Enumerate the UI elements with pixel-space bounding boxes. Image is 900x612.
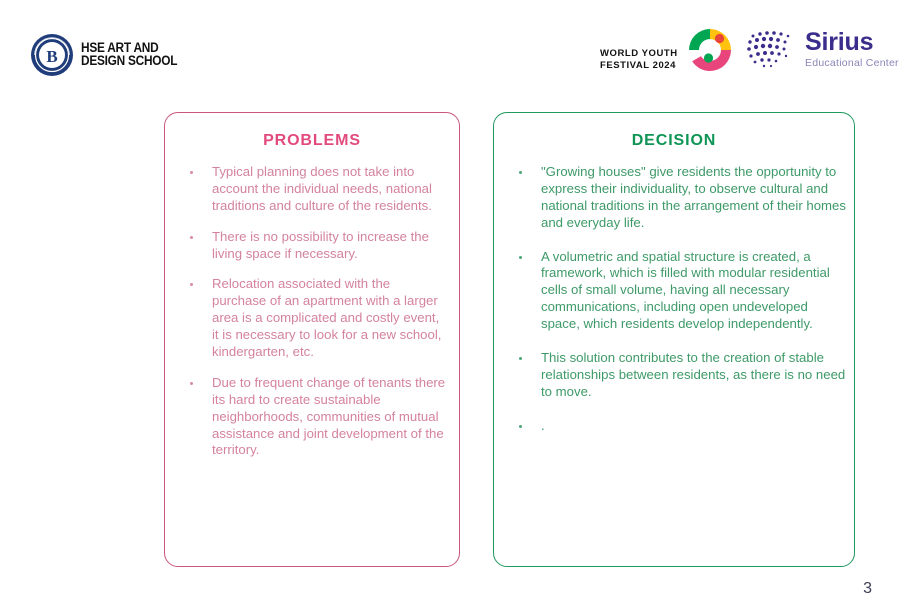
sirius-dot-cluster-icon [744, 28, 796, 70]
svg-text:B: B [46, 47, 57, 66]
bullet-point-icon [190, 236, 193, 239]
bullet-point-icon [519, 425, 522, 428]
list-item: There is no possibility to increase the … [178, 229, 447, 263]
hse-seal-icon: B [30, 33, 74, 77]
problems-card-title: PROBLEMS [165, 132, 459, 150]
sirius-logo-name: Sirius [805, 30, 899, 55]
decision-bullet-4: . [541, 418, 846, 435]
sirius-educational-center-logo: Sirius Educational Center [744, 28, 899, 70]
presentation-slide: B HSE ART AND DESIGN SCHOOL WORLD YOUTH … [0, 0, 900, 612]
decision-card: DECISION "Growing houses" give residents… [493, 112, 855, 567]
list-item: A volumetric and spatial structure is cr… [507, 249, 846, 333]
list-item: Relocation associated with the purchase … [178, 276, 447, 360]
decision-bullet-list: "Growing houses" give residents the oppo… [494, 164, 854, 435]
problems-bullet-4: Due to frequent change of tenants there … [212, 375, 447, 459]
wyf-logo-line2: FESTIVAL 2024 [600, 60, 678, 72]
list-item: "Growing houses" give residents the oppo… [507, 164, 846, 232]
page-number: 3 [863, 580, 872, 598]
hse-logo-line2: DESIGN SCHOOL [81, 55, 177, 68]
problems-bullet-2: There is no possibility to increase the … [212, 229, 447, 263]
bullet-point-icon [190, 382, 193, 385]
decision-bullet-1: "Growing houses" give residents the oppo… [541, 164, 846, 232]
list-item: This solution contributes to the creatio… [507, 350, 846, 401]
decision-bullet-2: A volumetric and spatial structure is cr… [541, 249, 846, 333]
problems-bullet-3: Relocation associated with the purchase … [212, 276, 447, 360]
sirius-logo-subtitle: Educational Center [805, 58, 899, 69]
world-youth-festival-ring-icon [682, 22, 738, 78]
wyf-logo-line1: WORLD YOUTH [600, 48, 678, 60]
problems-card: PROBLEMS Typical planning does not take … [164, 112, 460, 567]
problems-bullet-1: Typical planning does not take into acco… [212, 164, 447, 215]
bullet-point-icon [519, 256, 522, 259]
hse-art-and-design-school-logo: B HSE ART AND DESIGN SCHOOL [30, 33, 190, 77]
list-item: . [507, 418, 846, 435]
decision-bullet-3: This solution contributes to the creatio… [541, 350, 846, 401]
bullet-point-icon [519, 171, 522, 174]
list-item: Due to frequent change of tenants there … [178, 375, 447, 459]
bullet-point-icon [190, 171, 193, 174]
decision-card-title: DECISION [494, 132, 854, 150]
bullet-point-icon [519, 357, 522, 360]
slide-header: B HSE ART AND DESIGN SCHOOL WORLD YOUTH … [0, 0, 900, 95]
bullet-point-icon [190, 283, 193, 286]
list-item: Typical planning does not take into acco… [178, 164, 447, 215]
problems-bullet-list: Typical planning does not take into acco… [165, 164, 459, 459]
world-youth-festival-logo: WORLD YOUTH FESTIVAL 2024 [600, 22, 738, 78]
